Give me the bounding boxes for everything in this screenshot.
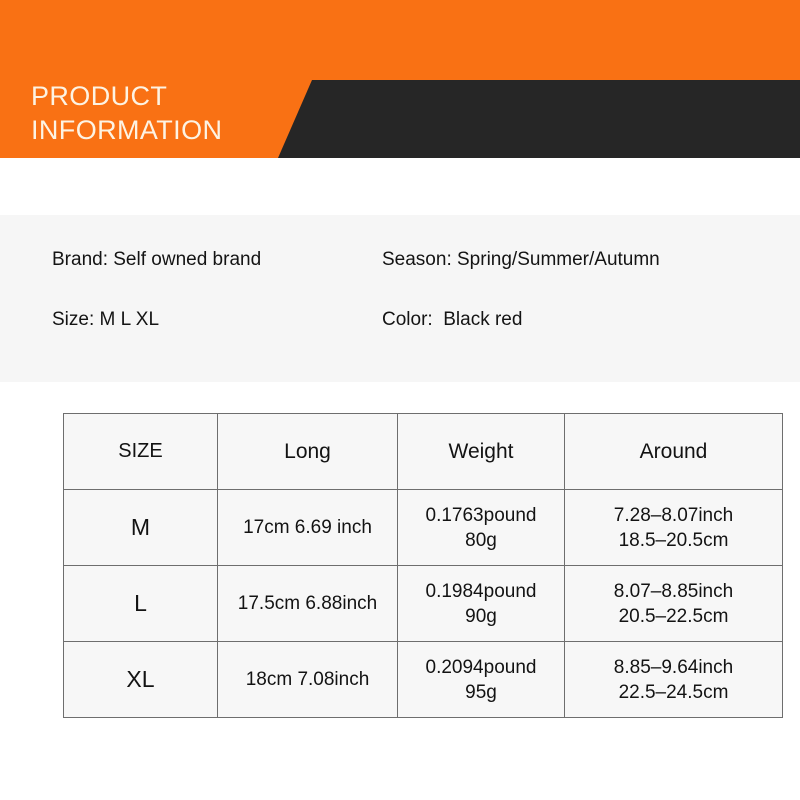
cell-weight: 0.2094pound 95g: [398, 642, 565, 718]
cell-around: 8.85–9.64inch 22.5–24.5cm: [565, 642, 783, 718]
column-header-around: Around: [565, 414, 783, 490]
column-header-size: SIZE: [64, 414, 218, 490]
attribute-row-1: Brand: Self owned brand Season: Spring/S…: [0, 246, 800, 274]
column-header-long: Long: [218, 414, 398, 490]
cell-around: 8.07–8.85inch 20.5–22.5cm: [565, 566, 783, 642]
table-header-row: SIZE Long Weight Around: [64, 414, 783, 490]
attribute-size: Size: M L XL: [52, 306, 159, 334]
cell-size: M: [64, 490, 218, 566]
size-chart-table: SIZE Long Weight Around M 17cm 6.69 inch…: [63, 413, 783, 718]
table-row: XL 18cm 7.08inch 0.2094pound 95g 8.85–9.…: [64, 642, 783, 718]
cell-long: 17cm 6.69 inch: [218, 490, 398, 566]
cell-weight: 0.1763pound 80g: [398, 490, 565, 566]
table-row: M 17cm 6.69 inch 0.1763pound 80g 7.28–8.…: [64, 490, 783, 566]
cell-weight: 0.1984pound 90g: [398, 566, 565, 642]
column-header-weight: Weight: [398, 414, 565, 490]
product-attributes-panel: Brand: Self owned brand Season: Spring/S…: [0, 215, 800, 382]
attribute-color: Color: Black red: [382, 306, 522, 334]
table-row: L 17.5cm 6.88inch 0.1984pound 90g 8.07–8…: [64, 566, 783, 642]
attribute-season: Season: Spring/Summer/Autumn: [382, 246, 660, 274]
page-title: PRODUCT INFORMATION: [31, 79, 222, 147]
cell-long: 17.5cm 6.88inch: [218, 566, 398, 642]
attribute-row-2: Size: M L XL Color: Black red: [0, 306, 800, 334]
attribute-brand: Brand: Self owned brand: [52, 246, 261, 274]
cell-long: 18cm 7.08inch: [218, 642, 398, 718]
cell-size: L: [64, 566, 218, 642]
product-information-banner: PRODUCT INFORMATION: [0, 0, 800, 158]
cell-size: XL: [64, 642, 218, 718]
cell-around: 7.28–8.07inch 18.5–20.5cm: [565, 490, 783, 566]
